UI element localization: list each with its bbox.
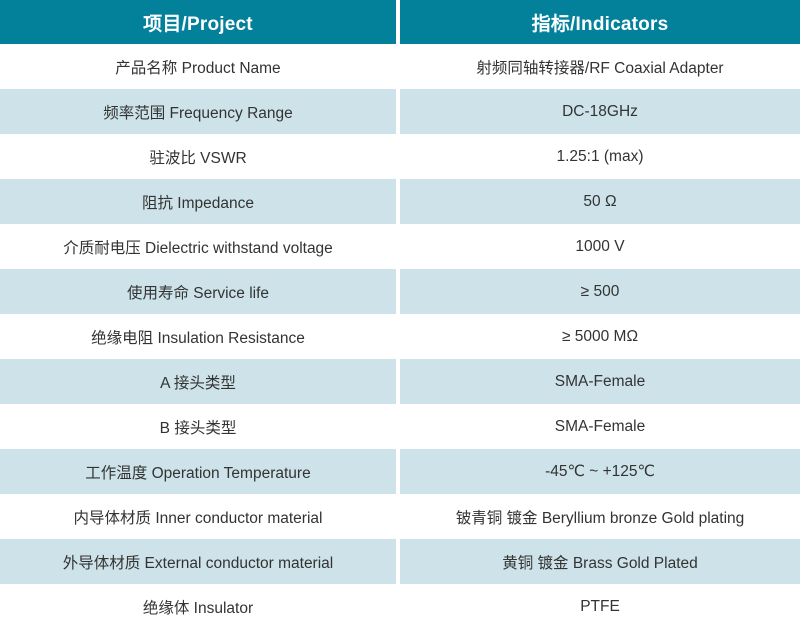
table-row: 产品名称 Product Name射频同轴转接器/RF Coaxial Adap… <box>0 44 800 89</box>
cell-project: 阻抗 Impedance <box>0 179 400 224</box>
table-row: 介质耐电压 Dielectric withstand voltage1000 V <box>0 224 800 269</box>
cell-indicator: SMA-Female <box>400 359 800 404</box>
cell-project: 内导体材质 Inner conductor material <box>0 494 400 539</box>
cell-indicator: -45℃ ~ +125℃ <box>400 449 800 494</box>
cell-indicator: 铍青铜 镀金 Beryllium bronze Gold plating <box>400 494 800 539</box>
cell-project: 频率范围 Frequency Range <box>0 89 400 134</box>
column-header-project: 项目/Project <box>0 0 400 44</box>
table-row: 使用寿命 Service life≥ 500 <box>0 269 800 314</box>
table-row: 绝缘电阻 Insulation Resistance≥ 5000 MΩ <box>0 314 800 359</box>
table-row: 驻波比 VSWR1.25:1 (max) <box>0 134 800 179</box>
table-row: 频率范围 Frequency RangeDC-18GHz <box>0 89 800 134</box>
table-header: 项目/Project 指标/Indicators <box>0 0 800 44</box>
cell-indicator: ≥ 5000 MΩ <box>400 314 800 359</box>
table-row: 内导体材质 Inner conductor material铍青铜 镀金 Ber… <box>0 494 800 539</box>
cell-indicator: 射频同轴转接器/RF Coaxial Adapter <box>400 44 800 89</box>
cell-indicator: SMA-Female <box>400 404 800 449</box>
table-row: 外导体材质 External conductor material黄铜 镀金 B… <box>0 539 800 584</box>
cell-project: A 接头类型 <box>0 359 400 404</box>
cell-indicator: DC-18GHz <box>400 89 800 134</box>
table-row: 工作温度 Operation Temperature-45℃ ~ +125℃ <box>0 449 800 494</box>
cell-project: 工作温度 Operation Temperature <box>0 449 400 494</box>
table-row: 绝缘体 InsulatorPTFE <box>0 584 800 629</box>
cell-project: 绝缘体 Insulator <box>0 584 400 629</box>
table-row: B 接头类型SMA-Female <box>0 404 800 449</box>
cell-project: B 接头类型 <box>0 404 400 449</box>
cell-indicator: 1.25:1 (max) <box>400 134 800 179</box>
cell-project: 驻波比 VSWR <box>0 134 400 179</box>
cell-project: 介质耐电压 Dielectric withstand voltage <box>0 224 400 269</box>
cell-indicator: 50 Ω <box>400 179 800 224</box>
header-row: 项目/Project 指标/Indicators <box>0 0 800 44</box>
product-specification-table: 项目/Project 指标/Indicators 产品名称 Product Na… <box>0 0 800 629</box>
column-header-indicators: 指标/Indicators <box>400 0 800 44</box>
cell-project: 绝缘电阻 Insulation Resistance <box>0 314 400 359</box>
cell-indicator: 1000 V <box>400 224 800 269</box>
cell-project: 外导体材质 External conductor material <box>0 539 400 584</box>
cell-indicator: 黄铜 镀金 Brass Gold Plated <box>400 539 800 584</box>
cell-project: 使用寿命 Service life <box>0 269 400 314</box>
cell-indicator: PTFE <box>400 584 800 629</box>
table-row: A 接头类型SMA-Female <box>0 359 800 404</box>
table-row: 阻抗 Impedance50 Ω <box>0 179 800 224</box>
cell-project: 产品名称 Product Name <box>0 44 400 89</box>
table-body: 产品名称 Product Name射频同轴转接器/RF Coaxial Adap… <box>0 44 800 629</box>
cell-indicator: ≥ 500 <box>400 269 800 314</box>
